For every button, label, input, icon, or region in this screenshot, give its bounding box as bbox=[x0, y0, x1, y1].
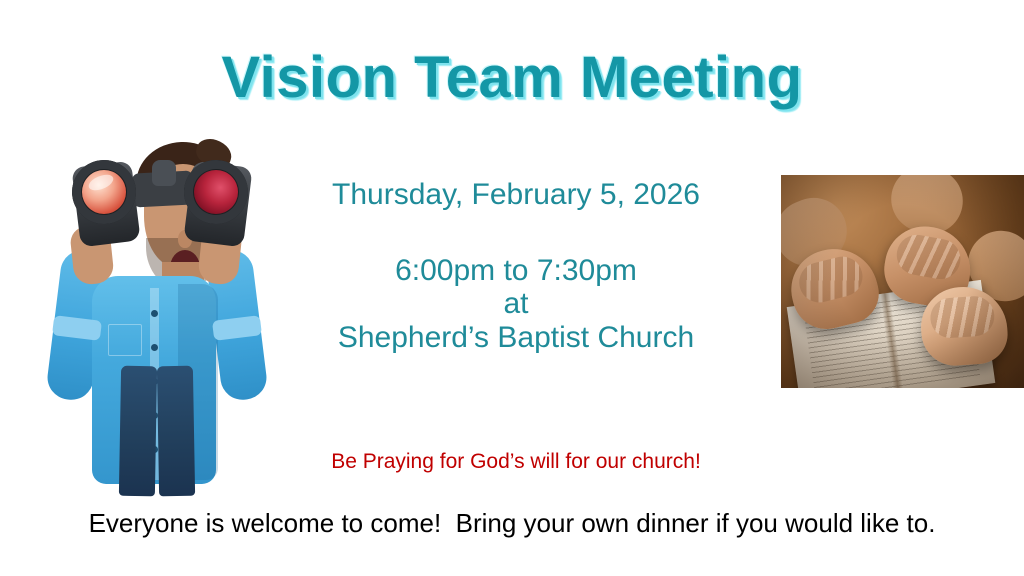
binoculars-focus-knob bbox=[152, 160, 176, 186]
event-details: Thursday, February 5, 2026 6:00pm to 7:3… bbox=[258, 178, 774, 354]
welcome-note: Everyone is welcome to come! Bring your … bbox=[0, 508, 1024, 539]
left-leg-jeans bbox=[119, 366, 157, 497]
man-with-binoculars-photo bbox=[28, 138, 280, 494]
event-date: Thursday, February 5, 2026 bbox=[258, 178, 774, 212]
spacer bbox=[258, 212, 774, 254]
shirt-pocket bbox=[108, 324, 142, 356]
binoculars-right-lens bbox=[194, 170, 238, 214]
right-leg-jeans bbox=[157, 366, 195, 497]
event-at-word: at bbox=[258, 287, 774, 321]
page-title: Vision Team Meeting bbox=[0, 44, 1024, 111]
praying-hands-over-bible-photo bbox=[781, 175, 1024, 388]
shirt-button bbox=[151, 344, 158, 351]
prayer-request-text: Be Praying for God’s will for our church… bbox=[258, 450, 774, 474]
event-location: Shepherd’s Baptist Church bbox=[258, 321, 774, 355]
event-time: 6:00pm to 7:30pm bbox=[258, 254, 774, 288]
photo-vignette bbox=[781, 175, 1024, 388]
shirt-button bbox=[151, 310, 158, 317]
announcement-slide: Vision Team Meeting bbox=[0, 0, 1024, 576]
